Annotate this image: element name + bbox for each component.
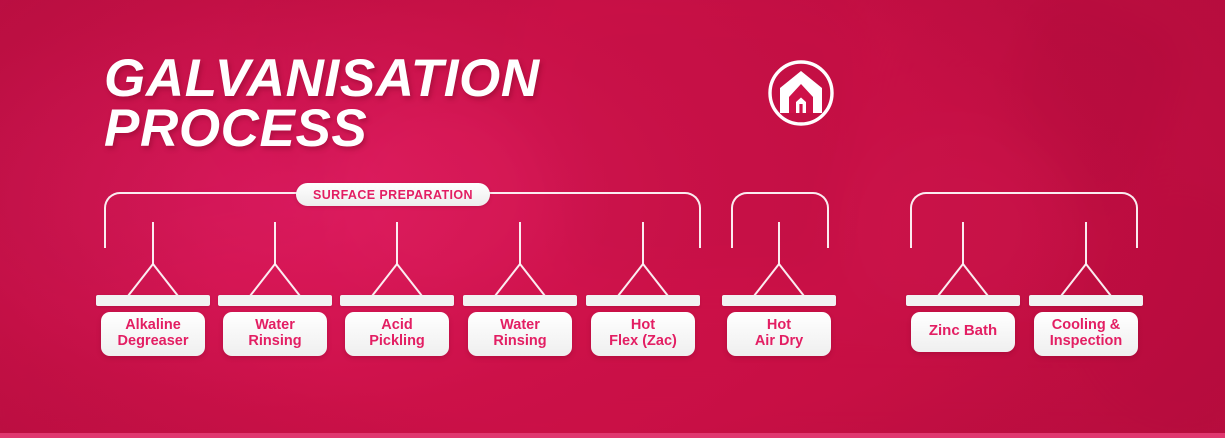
- title-line-2: PROCESS: [104, 104, 540, 154]
- hanger-stem: [274, 222, 276, 264]
- company-logo: [766, 58, 836, 128]
- logo-house-arrow-icon: [766, 58, 836, 128]
- hanger-bar: [1029, 295, 1143, 306]
- hanger-stem: [778, 222, 780, 264]
- step-sign[interactable]: Hot Flex (Zac): [591, 312, 695, 356]
- hanger-bar: [218, 295, 332, 306]
- step-sign[interactable]: Cooling & Inspection: [1034, 312, 1138, 356]
- step-sign[interactable]: Water Rinsing: [223, 312, 327, 356]
- group-bracket: [910, 192, 1138, 248]
- hanger-stem: [519, 222, 521, 264]
- hanger-bar: [340, 295, 454, 306]
- title-line-1: GALVANISATION: [104, 54, 540, 104]
- step-sign[interactable]: Water Rinsing: [468, 312, 572, 356]
- step-sign[interactable]: Hot Air Dry: [727, 312, 831, 356]
- hanger-leg-right: [1085, 263, 1111, 296]
- step-label: Alkaline Degreaser: [118, 317, 189, 349]
- step-sign[interactable]: Acid Pickling: [345, 312, 449, 356]
- hanger-bar: [586, 295, 700, 306]
- hanger-leg-left: [128, 263, 154, 296]
- hanger-leg-left: [495, 263, 521, 296]
- step-sign[interactable]: Alkaline Degreaser: [101, 312, 205, 356]
- hanger-leg-left: [754, 263, 780, 296]
- step-label: Hot Air Dry: [755, 317, 803, 349]
- hanger-bar: [906, 295, 1020, 306]
- hanger-stem: [1085, 222, 1087, 264]
- hanger-stem: [396, 222, 398, 264]
- hanger-stem: [152, 222, 154, 264]
- galvanisation-process-banner: GALVANISATION PROCESS SURFACE PREPARATIO…: [0, 0, 1225, 438]
- hanger-leg-left: [1061, 263, 1087, 296]
- hanger-leg-left: [250, 263, 276, 296]
- step-label: Zinc Bath: [929, 323, 997, 339]
- hanger-leg-right: [519, 263, 545, 296]
- step-sign[interactable]: Zinc Bath: [911, 312, 1015, 352]
- hanger-leg-right: [152, 263, 178, 296]
- hanger-leg-left: [372, 263, 398, 296]
- group-label-text: SURFACE PREPARATION: [313, 188, 473, 202]
- hanger-leg-left: [618, 263, 644, 296]
- hanger-leg-right: [396, 263, 422, 296]
- page-title: GALVANISATION PROCESS: [104, 54, 540, 154]
- hanger-leg-right: [642, 263, 668, 296]
- hanger-stem: [642, 222, 644, 264]
- step-label: Acid Pickling: [369, 317, 425, 349]
- step-label: Water Rinsing: [248, 317, 301, 349]
- hanger-leg-right: [962, 263, 988, 296]
- step-label: Cooling & Inspection: [1050, 317, 1123, 349]
- hanger-bar: [96, 295, 210, 306]
- step-label: Hot Flex (Zac): [609, 317, 677, 349]
- hanger-leg-left: [938, 263, 964, 296]
- group-label-surface-preparation: SURFACE PREPARATION: [296, 183, 490, 206]
- group-bracket: [731, 192, 829, 248]
- step-label: Water Rinsing: [493, 317, 546, 349]
- hanger-leg-right: [778, 263, 804, 296]
- hanger-leg-right: [274, 263, 300, 296]
- hanger-bar: [463, 295, 577, 306]
- hanger-stem: [962, 222, 964, 264]
- hanger-bar: [722, 295, 836, 306]
